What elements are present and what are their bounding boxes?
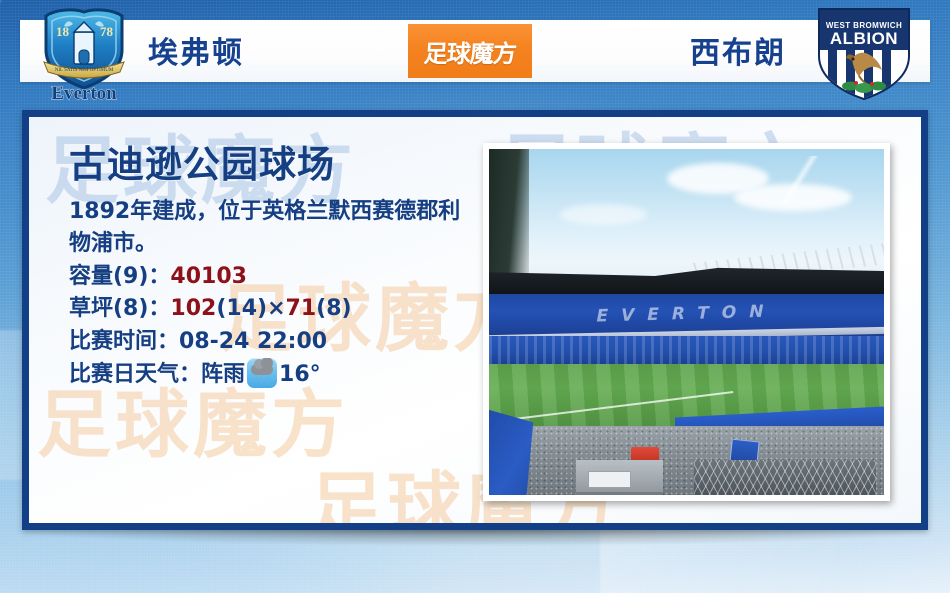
everton-crest-year-left: 18 bbox=[56, 24, 70, 39]
everton-wordmark: Everton bbox=[51, 83, 117, 102]
shower-rain-icon bbox=[247, 358, 277, 388]
away-team-name: 西布朗 bbox=[690, 28, 786, 72]
capacity-row: 容量(9)：40103 bbox=[69, 261, 489, 294]
goodison-park-photo-frame[interactable]: EVERTON bbox=[483, 143, 890, 501]
west-bromwich-albion-crest[interactable]: WEST BROMWICH ALBION bbox=[812, 6, 916, 102]
pitch-separator: × bbox=[267, 296, 285, 321]
weather-condition: 阵雨 bbox=[201, 362, 245, 387]
photo-mesh-fence bbox=[694, 460, 876, 495]
pitch-length-alt: (14) bbox=[216, 296, 267, 321]
venue-title: 古迪逊公园球场 bbox=[69, 145, 489, 186]
photo-cloud bbox=[560, 204, 647, 225]
photo-contrail bbox=[718, 156, 884, 204]
panel-shadow bbox=[22, 530, 928, 546]
venue-info-block: 古迪逊公园球场 1892年建成，位于英格兰默西赛德郡利物浦市。 容量(9)：40… bbox=[69, 145, 489, 392]
brand-logo-text: 足球魔方 bbox=[423, 34, 517, 69]
weather-label: 比赛日天气： bbox=[69, 362, 201, 387]
home-team-name: 埃弗顿 bbox=[148, 28, 244, 72]
goodison-park-photo: EVERTON bbox=[489, 149, 884, 495]
weather-temperature: 16° bbox=[279, 362, 321, 387]
pitch-width-alt: (8) bbox=[316, 296, 351, 321]
everton-crest[interactable]: 18 78 NIL SATIS NISI OPTIMUM Everton bbox=[34, 6, 134, 102]
pitch-label: 草坪(8)： bbox=[69, 296, 170, 321]
photo-placard bbox=[588, 471, 631, 488]
weather-row: 比赛日天气：阵雨 16° bbox=[69, 358, 489, 392]
match-time-label: 比赛时间： bbox=[69, 329, 179, 354]
capacity-value: 40103 bbox=[170, 264, 247, 289]
match-time-value: 08-24 22:00 bbox=[179, 329, 327, 354]
match-time-row: 比赛时间：08-24 22:00 bbox=[69, 326, 489, 359]
pitch-width: 71 bbox=[286, 296, 317, 321]
brand-logo[interactable]: 足球魔方 bbox=[408, 24, 532, 78]
everton-crest-year-right: 78 bbox=[100, 24, 114, 39]
photo-seats bbox=[489, 336, 884, 367]
pitch-length: 102 bbox=[170, 296, 216, 321]
wba-crest-line2: ALBION bbox=[830, 29, 898, 48]
pitch-row: 草坪(8)：102(14)×71(8) bbox=[69, 293, 489, 326]
capacity-label: 容量(9)： bbox=[69, 264, 170, 289]
everton-crest-motto: NIL SATIS NISI OPTIMUM bbox=[55, 68, 114, 73]
venue-description: 1892年建成，位于英格兰默西赛德郡利物浦市。 bbox=[69, 196, 469, 261]
